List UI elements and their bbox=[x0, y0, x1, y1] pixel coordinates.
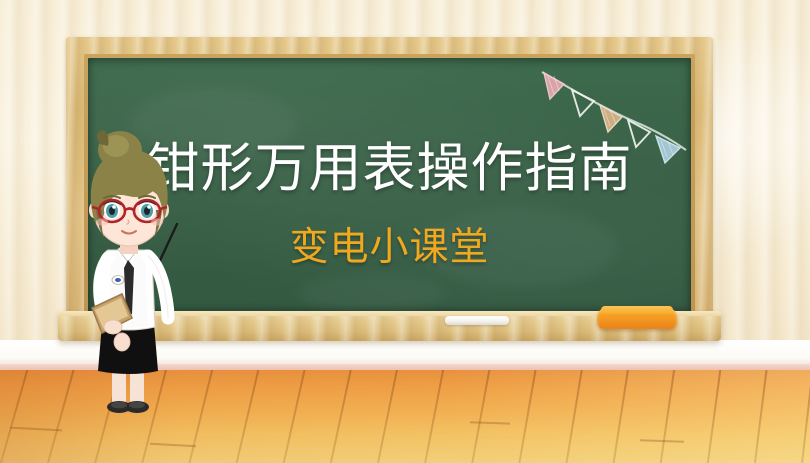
blush-left bbox=[96, 218, 108, 225]
teacher-character bbox=[56, 128, 206, 423]
shoe-left-shine bbox=[111, 402, 127, 409]
title-card-scene: 钳形万用表操作指南 变电小课堂 bbox=[0, 0, 810, 463]
hand-left bbox=[104, 320, 122, 334]
badge-dot bbox=[115, 278, 121, 282]
chalk-stick-icon bbox=[445, 316, 509, 325]
board-eraser-highlight bbox=[601, 306, 673, 314]
eye-glint-right bbox=[147, 205, 151, 209]
eye-glint-left bbox=[112, 205, 116, 209]
hand-right bbox=[114, 333, 130, 351]
blush-right bbox=[151, 218, 163, 225]
hair-bun-strand bbox=[97, 130, 109, 146]
shoe-right-shine bbox=[129, 402, 145, 409]
